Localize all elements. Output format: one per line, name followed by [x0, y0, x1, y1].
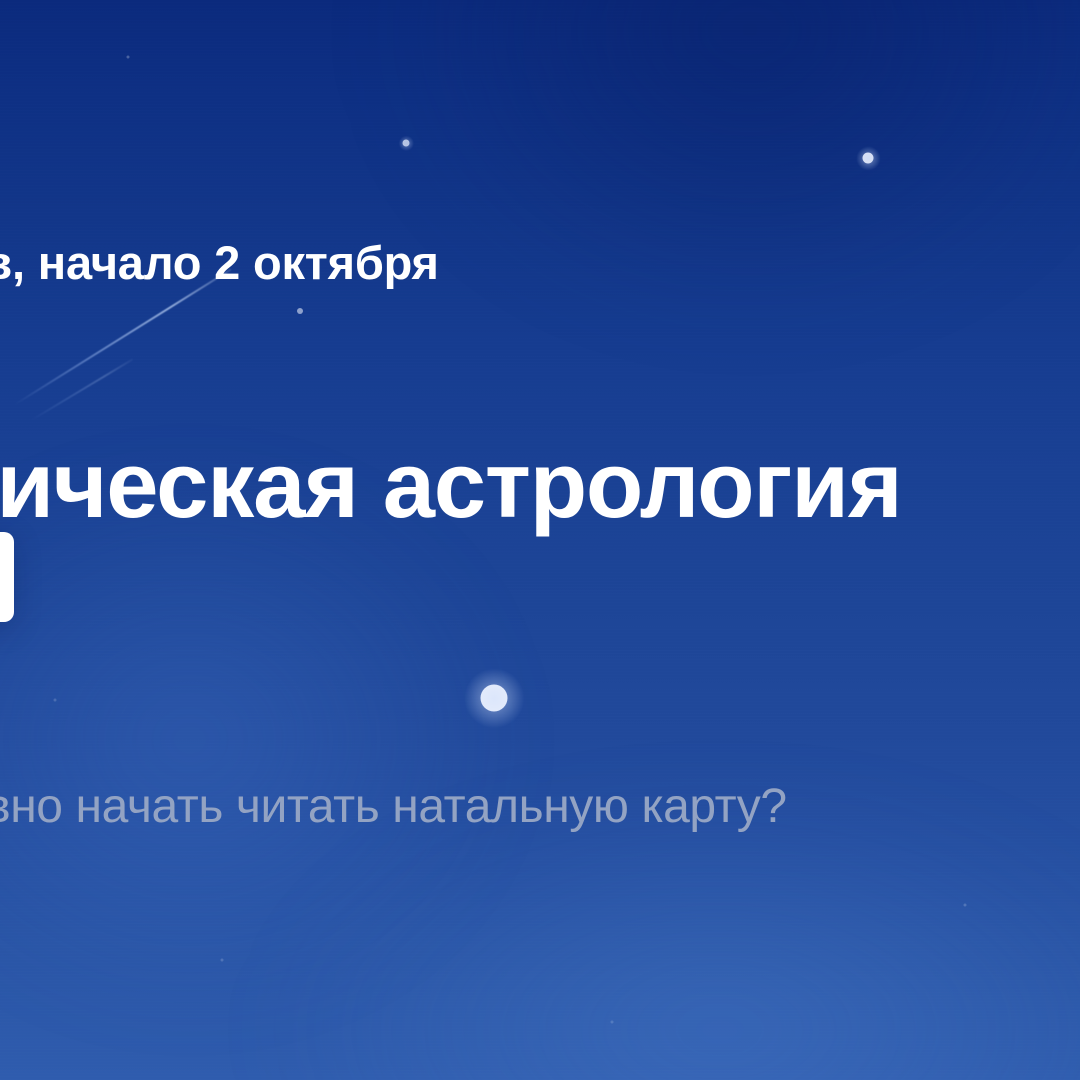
hero-content: Интенсив, начало 2 октября Практическая … — [0, 0, 1080, 1080]
hero-subtitle: Как эффективно начать читать натальную к… — [0, 776, 1080, 838]
hero-screenshot: Интенсив, начало 2 октября Практическая … — [0, 0, 1080, 1080]
hero-headline: Практическая астрология — [0, 431, 1080, 539]
hero-cta-button[interactable]: Записаться — [0, 532, 14, 622]
hero-kicker: Интенсив, начало 2 октября — [0, 233, 1080, 293]
